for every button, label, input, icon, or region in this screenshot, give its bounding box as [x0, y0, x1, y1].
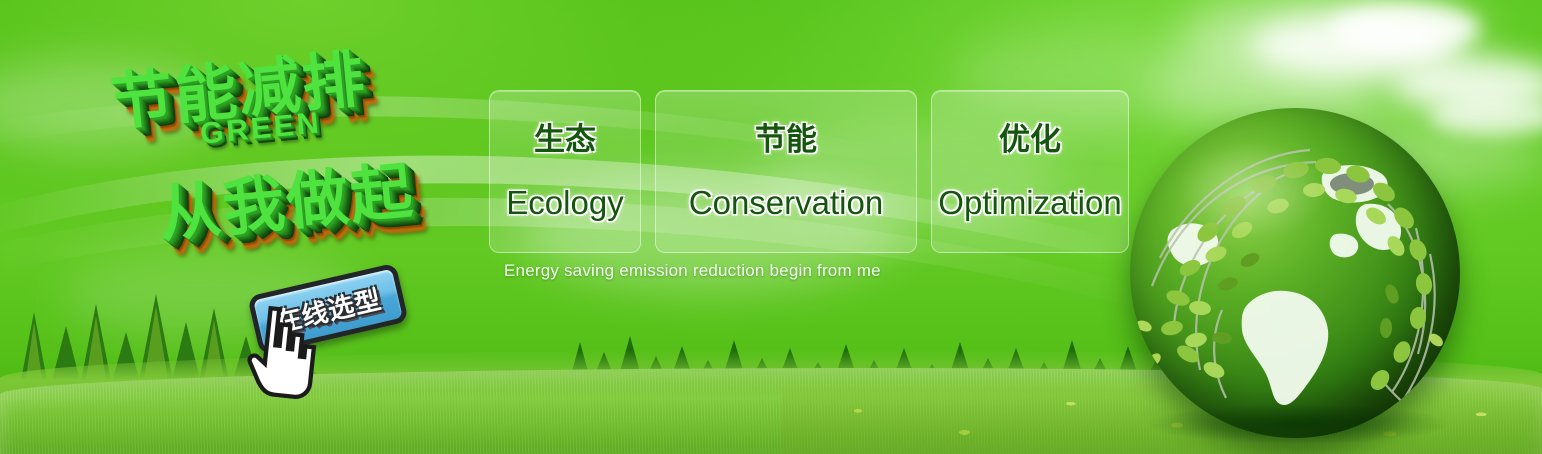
hand-pointer-icon — [235, 301, 320, 400]
feature-card-ecology-cn: 生态 — [534, 125, 596, 156]
feature-card-optimization-en: Optimization — [938, 186, 1121, 219]
earth-globe — [1130, 108, 1460, 438]
feature-card-conservation[interactable]: 节能 Conservation — [655, 90, 917, 253]
logo-line-2: 从我做起 — [154, 140, 417, 254]
feature-card-conservation-cn: 节能 — [755, 125, 817, 156]
feature-card-ecology-en: Ecology — [506, 186, 623, 219]
tagline: Energy saving emission reduction begin f… — [504, 261, 881, 281]
feature-cards: 生态 Ecology 节能 Conservation 优化 Optimizati… — [489, 90, 1129, 253]
hero-logo: 节能减排 GREEN 从我做起 — [96, 34, 496, 269]
feature-card-optimization[interactable]: 优化 Optimization — [931, 90, 1129, 253]
eco-banner: 节能减排 GREEN 从我做起 在线选型 生态 Ecology 节能 Conse… — [0, 0, 1542, 454]
feature-card-ecology[interactable]: 生态 Ecology — [489, 90, 641, 253]
feature-card-optimization-cn: 优化 — [999, 125, 1061, 156]
feature-card-conservation-en: Conservation — [689, 186, 883, 219]
